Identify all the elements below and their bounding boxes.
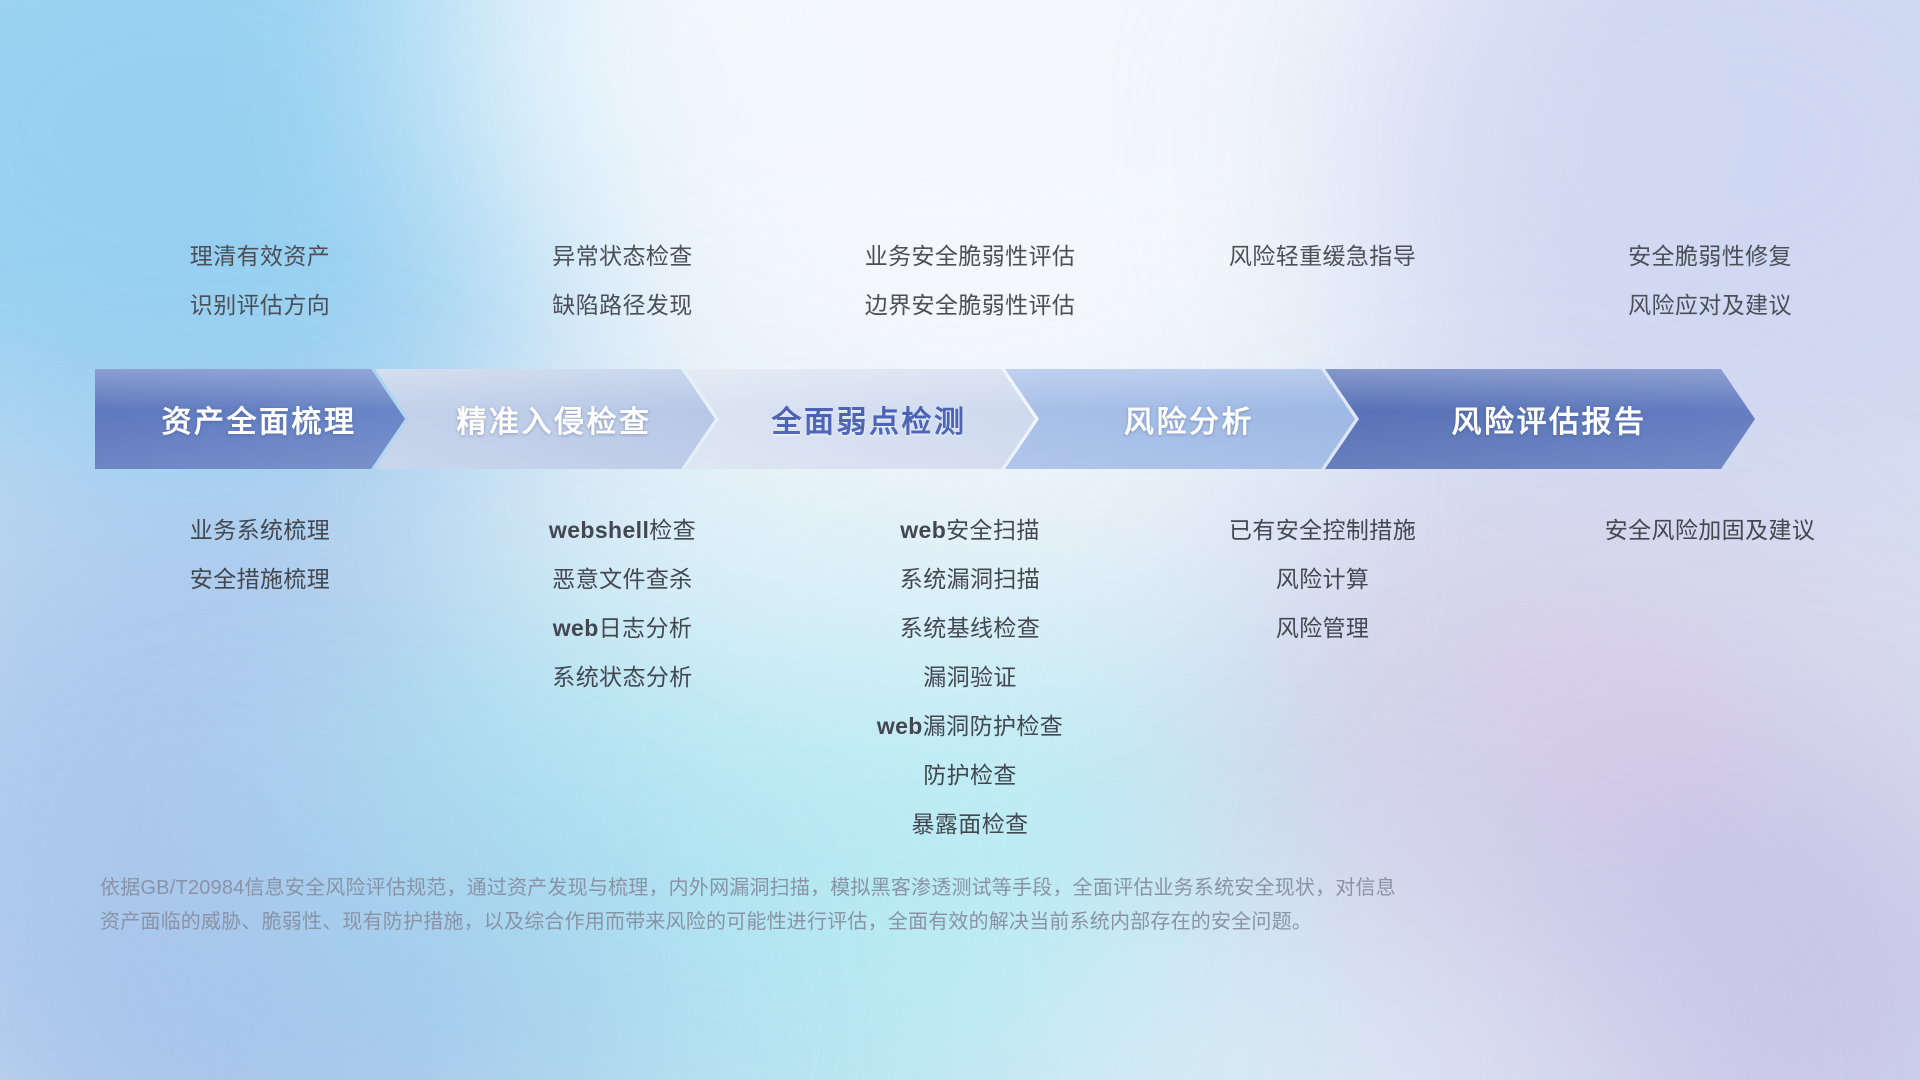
list-item: 风险计算 xyxy=(1145,555,1500,604)
process-step-label: 精准入侵检查 xyxy=(439,397,652,441)
top-notes-stage-4: 风险轻重缓急指导 xyxy=(1145,232,1500,330)
process-step-2[interactable]: 精准入侵检查 xyxy=(375,369,715,469)
bottom-list-stage-5: 安全风险加固及建议 xyxy=(1500,506,1920,555)
list-item: 防护检查 xyxy=(795,751,1145,800)
list-item: 系统漏洞扫描 xyxy=(795,555,1145,604)
process-step-1[interactable]: 资产全面梳理 xyxy=(95,369,405,469)
top-note-line: 理清有效资产 xyxy=(70,232,450,281)
list-item: 漏洞验证 xyxy=(795,653,1145,702)
slide-canvas: 理清有效资产 识别评估方向 异常状态检查 缺陷路径发现 业务安全脆弱性评估 边界… xyxy=(0,0,1920,1080)
list-item: 业务系统梳理 xyxy=(70,506,450,555)
list-item: webshell检查 xyxy=(450,506,795,555)
bottom-list-stage-2: webshell检查 恶意文件查杀 web日志分析 系统状态分析 xyxy=(450,506,795,702)
top-note-line: 识别评估方向 xyxy=(70,281,450,330)
footer-line-1: 依据GB/T20984信息安全风险评估规范，通过资产发现与梳理，内外网漏洞扫描，… xyxy=(100,871,1630,905)
footer-line-2: 资产面临的威胁、脆弱性、现有防护措施，以及综合作用而带来风险的可能性进行评估，全… xyxy=(100,905,1630,939)
process-step-3[interactable]: 全面弱点检测 xyxy=(685,369,1035,469)
top-notes-stage-3: 业务安全脆弱性评估 边界安全脆弱性评估 xyxy=(795,232,1145,330)
top-notes-stage-2: 异常状态检查 缺陷路径发现 xyxy=(450,232,795,330)
list-item: 风险管理 xyxy=(1145,604,1500,653)
process-step-5[interactable]: 风险评估报告 xyxy=(1325,369,1755,469)
top-notes-row: 理清有效资产 识别评估方向 异常状态检查 缺陷路径发现 业务安全脆弱性评估 边界… xyxy=(0,232,1920,330)
list-item-latin-token: webshell xyxy=(549,517,649,543)
process-step-label: 资产全面梳理 xyxy=(144,397,357,441)
top-notes-stage-1: 理清有效资产 识别评估方向 xyxy=(70,232,450,330)
list-item-latin-token: web xyxy=(900,517,946,543)
process-step-label: 风险评估报告 xyxy=(1434,397,1647,441)
top-note-line: 风险应对及建议 xyxy=(1500,281,1920,330)
footer-description: 依据GB/T20984信息安全风险评估规范，通过资产发现与梳理，内外网漏洞扫描，… xyxy=(100,871,1630,939)
bottom-list-stage-1: 业务系统梳理 安全措施梳理 xyxy=(70,506,450,604)
list-item-latin-token: web xyxy=(877,713,923,739)
process-chevron-band: 资产全面梳理 精准入侵检查 全面弱点检测 风险分析 风险评估报告 xyxy=(95,369,1835,469)
diagram-content: 理清有效资产 识别评估方向 异常状态检查 缺陷路径发现 业务安全脆弱性评估 边界… xyxy=(0,0,1920,1080)
top-note-line: 风险轻重缓急指导 xyxy=(1145,232,1500,281)
top-notes-leading-spacer xyxy=(0,232,70,330)
bottom-list-stage-4: 已有安全控制措施 风险计算 风险管理 xyxy=(1145,506,1500,653)
list-item: 已有安全控制措施 xyxy=(1145,506,1500,555)
top-notes-stage-5: 安全脆弱性修复 风险应对及建议 xyxy=(1500,232,1920,330)
process-step-label: 风险分析 xyxy=(1106,397,1254,441)
list-item: 暴露面检查 xyxy=(795,800,1145,849)
top-note-line: 边界安全脆弱性评估 xyxy=(795,281,1145,330)
list-item: web安全扫描 xyxy=(795,506,1145,555)
top-note-line: 安全脆弱性修复 xyxy=(1500,232,1920,281)
top-note-line: 异常状态检查 xyxy=(450,232,795,281)
list-item: 系统基线检查 xyxy=(795,604,1145,653)
top-note-line: 缺陷路径发现 xyxy=(450,281,795,330)
list-item: 安全风险加固及建议 xyxy=(1500,506,1920,555)
list-item: web漏洞防护检查 xyxy=(795,702,1145,751)
process-step-label: 全面弱点检测 xyxy=(754,397,967,441)
list-item: 安全措施梳理 xyxy=(70,555,450,604)
list-item: 恶意文件查杀 xyxy=(450,555,795,604)
bottom-list-stage-3: web安全扫描 系统漏洞扫描 系统基线检查 漏洞验证 web漏洞防护检查 防护检… xyxy=(795,506,1145,849)
bottom-notes-row: 业务系统梳理 安全措施梳理 webshell检查 恶意文件查杀 web日志分析 … xyxy=(0,506,1920,849)
top-note-line: 业务安全脆弱性评估 xyxy=(795,232,1145,281)
list-item: 系统状态分析 xyxy=(450,653,795,702)
process-step-4[interactable]: 风险分析 xyxy=(1005,369,1355,469)
list-item: web日志分析 xyxy=(450,604,795,653)
list-item-latin-token: web xyxy=(553,615,599,641)
